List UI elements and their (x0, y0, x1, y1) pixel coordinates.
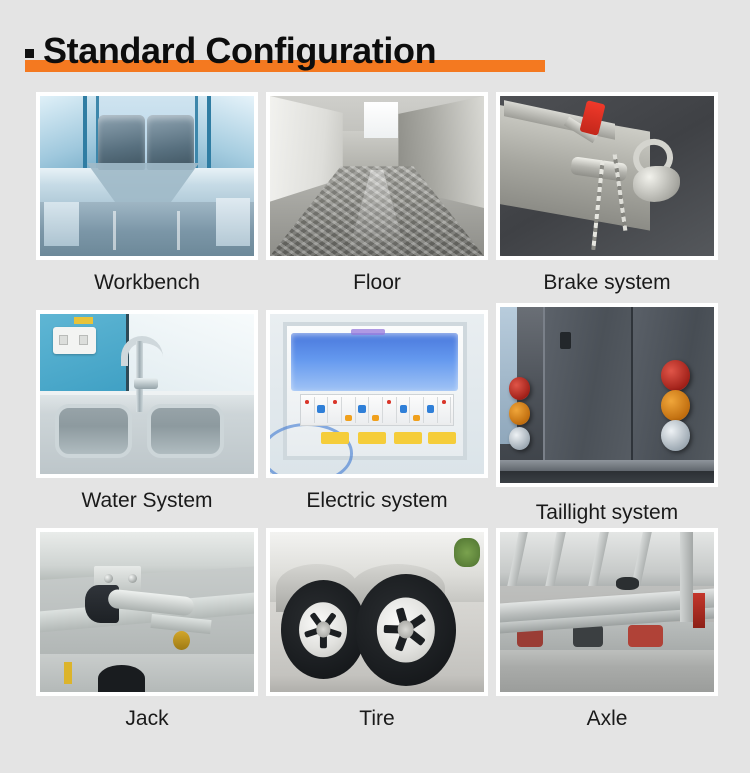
gallery-item-jack[interactable]: Jack (34, 528, 260, 746)
photo-frame[interactable] (266, 310, 488, 478)
gallery-row: Jack (0, 528, 750, 746)
gallery-item-label: Tire (359, 706, 394, 732)
floor-photo (270, 96, 484, 256)
photo-frame[interactable] (36, 310, 258, 478)
photo-frame[interactable] (266, 528, 488, 696)
configuration-gallery: Workbench Floor (0, 92, 750, 746)
page-title: Standard Configuration (43, 30, 436, 72)
photo-frame[interactable] (496, 92, 718, 260)
page-header: Standard Configuration (25, 28, 436, 80)
gallery-item-workbench[interactable]: Workbench (34, 92, 260, 310)
workbench-photo (40, 96, 254, 256)
photo-frame[interactable] (36, 92, 258, 260)
gallery-item-label: Brake system (543, 270, 670, 296)
gallery-item-label: Water System (81, 488, 212, 514)
gallery-item-label: Axle (587, 706, 628, 732)
photo-frame[interactable] (496, 303, 718, 487)
water-photo (40, 314, 254, 474)
gallery-item-label: Jack (125, 706, 168, 732)
gallery-item-label: Taillight system (536, 500, 678, 526)
gallery-item-label: Floor (353, 270, 401, 296)
gallery-item-water[interactable]: Water System (34, 310, 260, 528)
photo-frame[interactable] (36, 528, 258, 696)
gallery-item-label: Workbench (94, 270, 200, 296)
square-bullet-icon (25, 49, 34, 58)
electric-photo (270, 314, 484, 474)
jack-photo (40, 532, 254, 692)
taillight-photo (500, 307, 714, 483)
gallery-item-floor[interactable]: Floor (264, 92, 490, 310)
gallery-row: Workbench Floor (0, 92, 750, 310)
gallery-item-brake[interactable]: Brake system (494, 92, 720, 310)
tire-photo (270, 532, 484, 692)
brake-photo (500, 96, 714, 256)
gallery-item-tire[interactable]: Tire (264, 528, 490, 746)
axle-photo (500, 532, 714, 692)
gallery-item-electric[interactable]: Electric system (264, 310, 490, 528)
gallery-item-axle[interactable]: Axle (494, 528, 720, 746)
photo-frame[interactable] (496, 528, 718, 696)
gallery-item-taillight[interactable]: Taillight system (494, 310, 720, 528)
gallery-item-label: Electric system (306, 488, 447, 514)
gallery-row: Water System (0, 310, 750, 528)
photo-frame[interactable] (266, 92, 488, 260)
